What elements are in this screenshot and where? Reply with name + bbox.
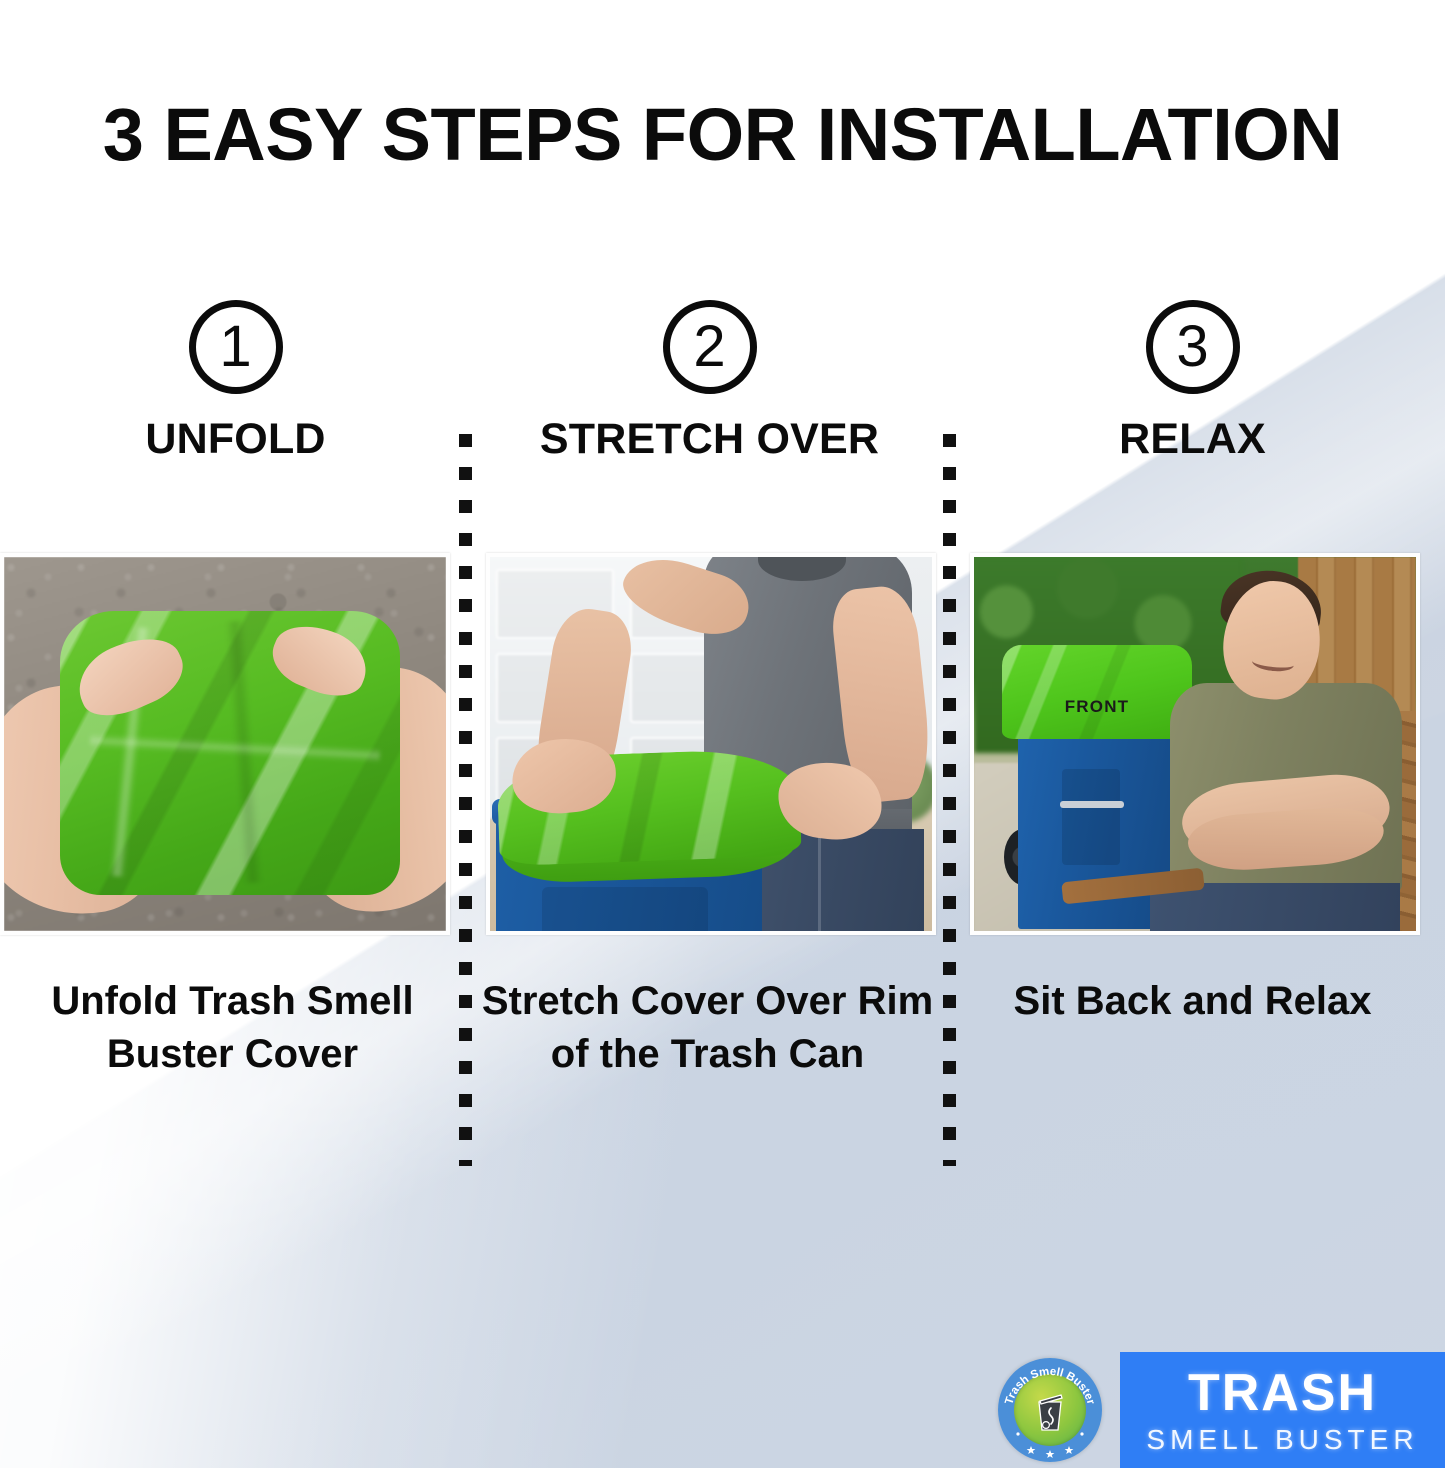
step-photo-3: FRONT [970, 553, 1420, 935]
brand-badge-icon: Trash Smell Buster [998, 1358, 1102, 1462]
infographic-page: 3 EASY STEPS FOR INSTALLATION 1 UNFOLD 2… [0, 0, 1445, 1468]
step-caption-1: Unfold Trash Smell Buster Cover [5, 975, 460, 1081]
step-photo-1-inner [4, 557, 446, 931]
step-label-1: UNFOLD [8, 418, 463, 461]
brand-wordmark-box: TRASH SMELL BUSTER [1120, 1352, 1445, 1468]
step-label-2: STRETCH OVER [482, 418, 937, 461]
bin-front-panel [1062, 769, 1120, 865]
step-number-2: 2 [693, 318, 725, 376]
step-photo-1 [0, 553, 450, 935]
jeans-seam [818, 833, 821, 931]
badge-stars [1016, 1432, 1083, 1458]
page-title: 3 EASY STEPS FOR INSTALLATION [0, 98, 1445, 172]
step-header-2: 2 STRETCH OVER [482, 300, 937, 461]
bin-handle-bar [1060, 801, 1124, 808]
trash-can-icon [1034, 1392, 1066, 1432]
bin-front-panel [542, 887, 708, 931]
step-header-1: 1 UNFOLD [8, 300, 463, 461]
step-header-3: 3 RELAX [965, 300, 1420, 461]
step-number-badge-2: 2 [663, 300, 757, 394]
step-label-3: RELAX [965, 418, 1420, 461]
step-number-1: 1 [219, 318, 251, 376]
brand-word-sub: SMELL BUSTER [1146, 1426, 1418, 1454]
brand-logo: Trash Smell Buster TRASH SMELL BUSTER [970, 1352, 1445, 1468]
step-caption-2: Stretch Cover Over Rim of the Trash Can [480, 975, 935, 1081]
step-photo-2 [486, 553, 936, 935]
step-number-badge-1: 1 [189, 300, 283, 394]
green-trash-cover [1002, 645, 1192, 739]
step-caption-3: Sit Back and Relax [965, 975, 1420, 1028]
step-photo-3-inner: FRONT [974, 557, 1416, 931]
step-number-badge-3: 3 [1146, 300, 1240, 394]
bin-front-text: FRONT [1002, 697, 1192, 717]
column-divider-1 [459, 434, 472, 1166]
step-photo-2-inner [490, 557, 932, 931]
brand-word-main: TRASH [1188, 1367, 1377, 1419]
column-divider-2 [943, 434, 956, 1166]
step-number-3: 3 [1176, 318, 1208, 376]
